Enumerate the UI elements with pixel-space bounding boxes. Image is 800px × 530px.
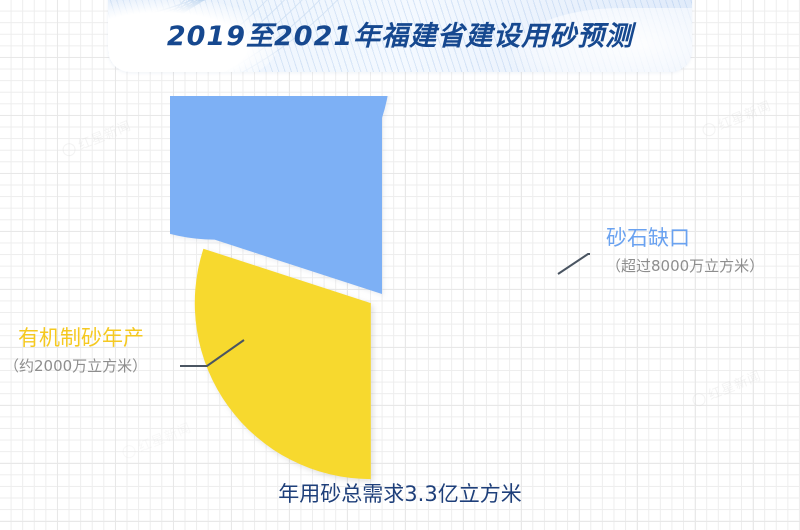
callout-left-subtitle: （约2000万立方米） xyxy=(4,357,147,375)
callout-right: 砂石缺口 （超过8000万立方米） xyxy=(606,226,764,275)
pie-chart xyxy=(170,96,590,496)
header-banner: 2019至2021年福建省建设用砂预测 xyxy=(108,0,692,72)
pie-slice-yellow[interactable] xyxy=(195,249,371,479)
chart-total-caption: 年用砂总需求3.3亿立方米 xyxy=(0,478,800,508)
pie-slice-yellow-group xyxy=(195,249,371,479)
leader-line-right xyxy=(558,254,590,274)
callout-left-title: 有机制砂年产 xyxy=(4,326,147,350)
page-title: 2019至2021年福建省建设用砂预测 xyxy=(108,14,692,53)
callout-left: 有机制砂年产 （约2000万立方米） xyxy=(4,326,147,375)
callout-right-title: 砂石缺口 xyxy=(606,226,764,250)
callout-right-subtitle: （超过8000万立方米） xyxy=(606,257,764,275)
